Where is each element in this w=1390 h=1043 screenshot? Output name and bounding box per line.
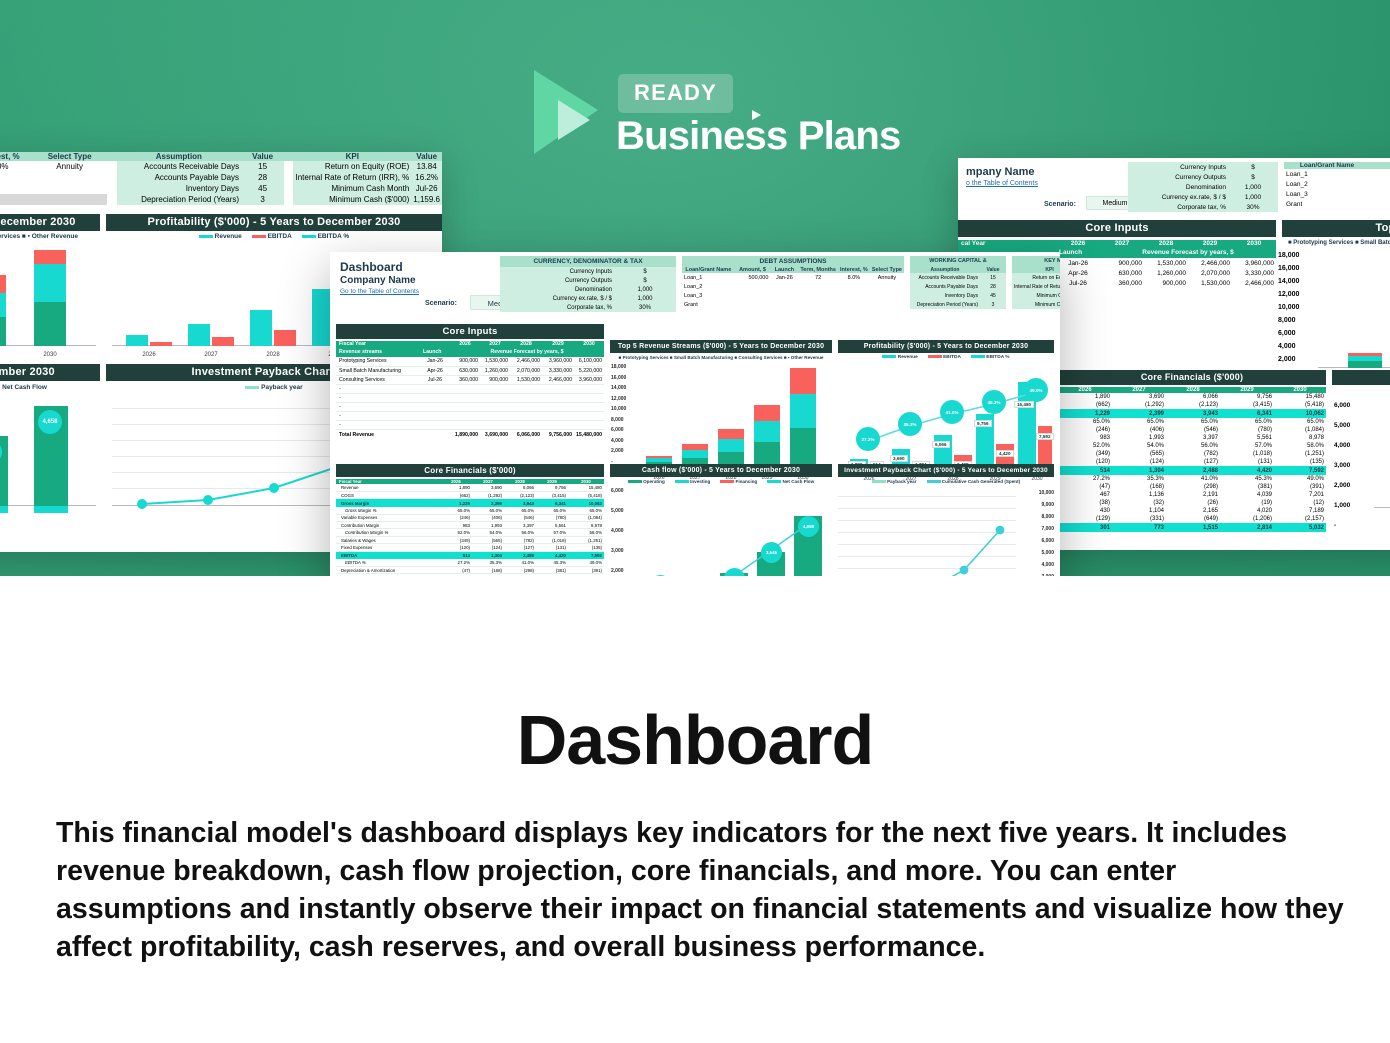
sheet-dashboard-front[interactable]: Dashboard Company Name Go to the Table o… [330, 252, 1060, 576]
revenue-streams-yaxis: 18,00016,00014,000 12,00010,0008,000 6,0… [611, 364, 626, 469]
legend-ebitda-pct: EBITDA % [971, 355, 1010, 360]
currency-panel-title: CURRENCY, DENOMINATOR & TAX [500, 256, 676, 267]
legend-investing: Investing [675, 479, 710, 484]
investment-payback-chart-title: Investment Payback Chart ($'000) - 5 Yea… [838, 464, 1054, 477]
working-capital-title: WORKING CAPITAL & DEPRECIATION [910, 256, 1006, 267]
play-triangle-icon [528, 64, 606, 160]
logo-play-dot-icon [752, 110, 761, 120]
legend-cumulative-cash: Cumulative Cash Generated (Spent) [927, 479, 1021, 484]
key-metrics-title: KEY METRICS [1012, 256, 1060, 267]
page-title-dashboard: Dashboard [340, 260, 419, 274]
legend-financing: Financing [720, 479, 757, 484]
core-inputs-title: Core Inputs [336, 324, 604, 339]
back-left-profitability-title: Profitability ($'000) - 5 Years to Decem… [106, 214, 442, 231]
section-title: Dashboard [0, 700, 1390, 780]
company-name: Company Name [340, 275, 419, 286]
investment-payback-plot: 2026 2027 2028 2029 2030 [838, 490, 1016, 576]
legend-operating: Operating [628, 479, 665, 484]
dashboard-header: Dashboard Company Name Go to the Table o… [340, 260, 419, 295]
key-metrics-table[interactable]: KPIValue Return on Equity (ROE)13.84 Int… [1012, 267, 1060, 309]
investment-payback-yaxis: 10,0009,0008,000 7,0006,0005,000 4,0003,… [1020, 490, 1054, 576]
brand-logo: READY Business Plans [528, 58, 888, 168]
legend-revenue: Revenue [882, 355, 917, 360]
brand-name: Business Plans [616, 114, 900, 159]
investment-payback-legend: Payback year Cumulative Cash Generated (… [838, 479, 1054, 484]
section-description: This financial model's dashboard display… [56, 815, 1346, 967]
toc-link[interactable]: Go to the Table of Contents [340, 288, 419, 295]
back-left-revenue-title: Revenue Streams ($'000) - 5 Years to Dec… [0, 214, 100, 231]
legend-ebitda: EBITDA [928, 355, 961, 360]
scenario-label: Scenario: [425, 300, 457, 307]
profitability-legend: Revenue EBITDA EBITDA % [838, 355, 1054, 360]
debt-panel-table[interactable]: Loan/Grant NameAmount, $LaunchTerm, Mont… [682, 267, 904, 309]
cash-flow-plot: 1,211 429 1,336 3,545 4,658 2026 2027 20… [636, 488, 832, 576]
cash-flow-chart-title: Cash flow ($'000) - 5 Years to December … [610, 464, 832, 477]
core-inputs-table[interactable]: Fiscal Year20262027202820292030 Revenue … [336, 341, 604, 440]
working-capital-table[interactable]: AssumptionValue Accounts Receivable Days… [910, 267, 1006, 309]
revenue-streams-legend: ■ Prototyping Services ■ Small Batch Man… [610, 355, 832, 360]
legend-net-cash-flow: Net Cash Flow [767, 479, 814, 484]
profitability-chart-title: Profitability ($'000) - 5 Years to Decem… [838, 340, 1054, 353]
debt-panel-title: DEBT ASSUMPTIONS [682, 256, 904, 267]
cash-flow-legend: Operating Investing Financing Net Cash F… [610, 479, 832, 484]
currency-panel-table[interactable]: Currency Inputs$ Currency Outputs$ Denom… [500, 267, 676, 312]
revenue-streams-chart-title: Top 5 Revenue Streams ($'000) - 5 Years … [610, 340, 832, 353]
core-financials-table[interactable]: Fiscal Year20262027202820292030 Revenue1… [336, 479, 604, 576]
ready-badge: READY [618, 74, 733, 113]
core-financials-title: Core Financials ($'000) [336, 464, 604, 477]
legend-payback-year: Payback year [872, 479, 917, 484]
hero-banner: READY Business Plans Amount, $Launch Ter… [0, 0, 1390, 576]
cash-flow-yaxis: 6,0005,0004,000 3,0002,0001,000 -(1,000) [611, 488, 627, 576]
